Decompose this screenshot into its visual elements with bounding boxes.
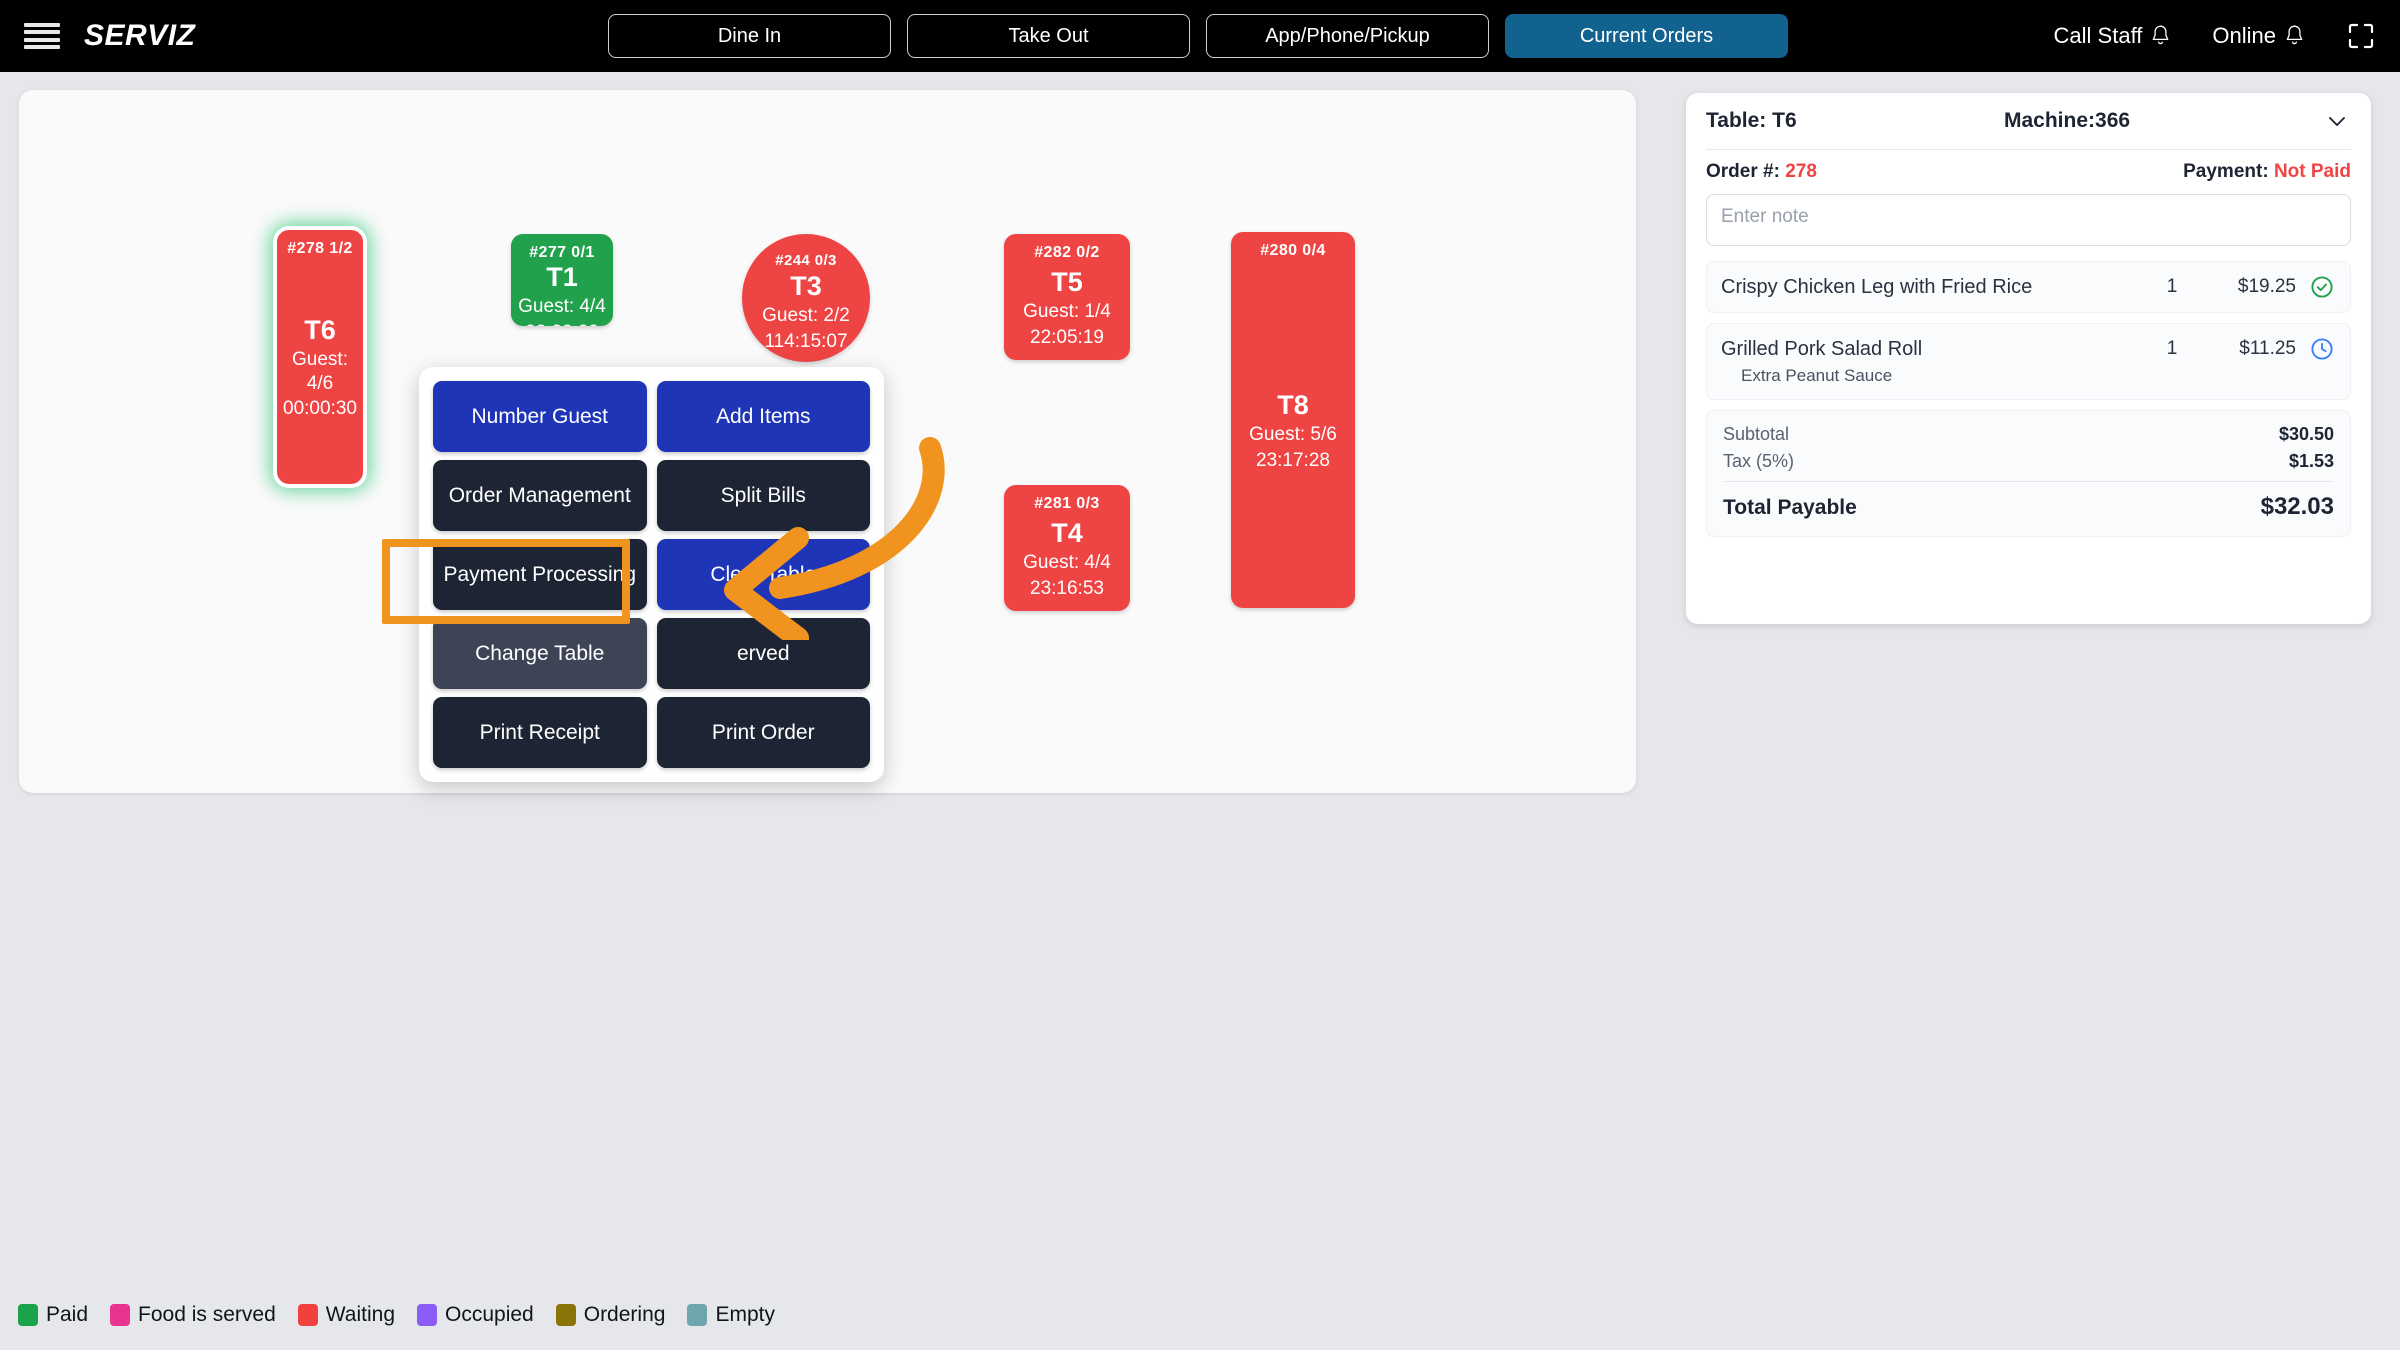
table-guest-count: Guest: 4/6 bbox=[277, 348, 363, 396]
legend-item-food-is-served: Food is served bbox=[110, 1303, 276, 1327]
tab-app-phone-pickup[interactable]: App/Phone/Pickup bbox=[1206, 14, 1489, 58]
menu-print-order-button[interactable]: Print Order bbox=[657, 697, 871, 768]
order-summary-row: Order #: 278 Payment: Not Paid bbox=[1706, 150, 2351, 194]
top-right-actions: Call Staff Online bbox=[2054, 0, 2376, 72]
tax-amount: $1.53 bbox=[2289, 451, 2334, 472]
table-elapsed-time: 23:16:53 bbox=[1030, 577, 1104, 601]
order-item-row[interactable]: Crispy Chicken Leg with Fried Rice 1 $19… bbox=[1706, 261, 2351, 313]
table-guest-count: Guest: 4/4 bbox=[1023, 551, 1111, 575]
call-staff-label: Call Staff bbox=[2054, 23, 2143, 49]
legend-label: Empty bbox=[715, 1303, 775, 1327]
table-name: T1 bbox=[546, 262, 578, 293]
order-item-qty: 1 bbox=[2142, 338, 2202, 360]
subtotal-label: Subtotal bbox=[1723, 424, 1789, 445]
tab-take-out[interactable]: Take Out bbox=[907, 14, 1190, 58]
order-item-price: $19.25 bbox=[2206, 276, 2296, 298]
table-card-t5[interactable]: #282 0/2 T5 Guest: 1/4 22:05:19 bbox=[1004, 234, 1130, 360]
subtotal-row: Subtotal $30.50 bbox=[1723, 424, 2334, 445]
table-ticket: #280 0/4 bbox=[1231, 232, 1355, 260]
legend-swatch bbox=[298, 1304, 318, 1326]
order-number-value: 278 bbox=[1785, 161, 1817, 182]
legend-item-occupied: Occupied bbox=[417, 1303, 534, 1327]
menu-order-management-button[interactable]: Order Management bbox=[433, 460, 647, 531]
hamburger-menu-icon[interactable] bbox=[24, 23, 60, 49]
total-payable-row: Total Payable $32.03 bbox=[1723, 493, 2334, 521]
table-card-t3[interactable]: #244 0/3 T3 Guest: 2/2 114:15:07 bbox=[742, 234, 870, 362]
top-navigation-bar: SERVIZ Dine In Take Out App/Phone/Pickup… bbox=[0, 0, 2400, 72]
table-guest-count: Guest: 1/4 bbox=[1023, 300, 1111, 324]
table-action-menu: Number Guest Add Items Order Management … bbox=[419, 367, 884, 782]
order-number-group: Order #: 278 bbox=[1706, 161, 1817, 183]
online-status-button[interactable]: Online bbox=[2212, 23, 2304, 49]
mode-tabs: Dine In Take Out App/Phone/Pickup Curren… bbox=[608, 14, 1788, 58]
table-elapsed-time: 00:00:30 bbox=[283, 397, 357, 421]
menu-payment-processing-button[interactable]: Payment Processing bbox=[433, 539, 647, 610]
order-note-placeholder: Enter note bbox=[1721, 206, 1809, 228]
table-name: T5 bbox=[1051, 267, 1083, 298]
legend-swatch bbox=[110, 1304, 130, 1326]
order-machine-label: Machine:366 bbox=[2004, 109, 2130, 133]
payment-status-group: Payment: Not Paid bbox=[2183, 161, 2351, 183]
table-elapsed-time: 22:05:19 bbox=[1030, 326, 1104, 350]
table-elapsed-time: 23:17:28 bbox=[1256, 449, 1330, 473]
legend-swatch bbox=[18, 1304, 38, 1326]
table-name: T6 bbox=[304, 315, 336, 346]
bell-icon bbox=[2151, 25, 2170, 47]
total-payable-label: Total Payable bbox=[1723, 496, 1857, 520]
app-logo: SERVIZ bbox=[84, 19, 195, 53]
table-guest-count: Guest: 5/6 bbox=[1249, 423, 1337, 447]
legend-item-ordering: Ordering bbox=[556, 1303, 666, 1327]
status-legend: Paid Food is served Waiting Occupied Ord… bbox=[18, 1303, 787, 1327]
order-panel-header: Table: T6 Machine:366 bbox=[1706, 93, 2351, 150]
table-name: T4 bbox=[1051, 518, 1083, 549]
bell-icon bbox=[2285, 25, 2304, 47]
check-circle-icon[interactable] bbox=[2310, 275, 2334, 299]
order-item-price: $11.25 bbox=[2206, 338, 2296, 360]
legend-item-empty: Empty bbox=[687, 1303, 775, 1327]
table-name: T8 bbox=[1277, 390, 1309, 421]
order-totals: Subtotal $30.50 Tax (5%) $1.53 Total Pay… bbox=[1706, 410, 2351, 537]
menu-clear-table-button[interactable]: Clear Table bbox=[657, 539, 871, 610]
table-guest-count: Guest: 4/4 bbox=[518, 295, 606, 319]
table-ticket: #281 0/3 bbox=[1004, 485, 1130, 513]
legend-swatch bbox=[687, 1304, 707, 1326]
tax-label: Tax (5%) bbox=[1723, 451, 1794, 472]
table-card-t1[interactable]: #277 0/1 T1 Guest: 4/4 23:22:29 bbox=[511, 234, 613, 326]
table-card-t4[interactable]: #281 0/3 T4 Guest: 4/4 23:16:53 bbox=[1004, 485, 1130, 611]
tax-row: Tax (5%) $1.53 bbox=[1723, 451, 2334, 472]
order-table-label: Table: T6 bbox=[1706, 109, 1797, 133]
legend-label: Waiting bbox=[326, 1303, 395, 1327]
table-card-t8[interactable]: #280 0/4 T8 Guest: 5/6 23:17:28 bbox=[1231, 232, 1355, 608]
tab-current-orders[interactable]: Current Orders bbox=[1505, 14, 1788, 58]
legend-swatch bbox=[417, 1304, 437, 1326]
menu-change-table-button[interactable]: Change Table bbox=[433, 618, 647, 689]
legend-item-paid: Paid bbox=[18, 1303, 88, 1327]
table-card-t6[interactable]: #278 1/2 T6 Guest: 4/6 00:00:30 bbox=[277, 230, 363, 484]
online-label: Online bbox=[2212, 23, 2276, 49]
table-ticket: #277 0/1 bbox=[511, 234, 613, 262]
order-item-name: Grilled Pork Salad Roll bbox=[1721, 338, 2138, 361]
table-elapsed-time: 23:22:29 bbox=[525, 321, 599, 326]
legend-label: Food is served bbox=[138, 1303, 276, 1327]
menu-number-guest-button[interactable]: Number Guest bbox=[433, 381, 647, 452]
legend-swatch bbox=[556, 1304, 576, 1326]
order-items-list: Crispy Chicken Leg with Fried Rice 1 $19… bbox=[1706, 261, 2351, 400]
clock-icon[interactable] bbox=[2310, 337, 2334, 361]
total-payable-amount: $32.03 bbox=[2261, 493, 2334, 521]
legend-label: Ordering bbox=[584, 1303, 666, 1327]
table-ticket: #278 1/2 bbox=[277, 230, 363, 258]
floor-plan-panel: #278 1/2 T6 Guest: 4/6 00:00:30 #277 0/1… bbox=[19, 90, 1636, 793]
order-item-qty: 1 bbox=[2142, 276, 2202, 298]
order-item-option: Extra Peanut Sauce bbox=[1721, 366, 2138, 386]
order-number-label: Order #: bbox=[1706, 161, 1780, 182]
table-elapsed-time: 114:15:07 bbox=[764, 330, 847, 354]
table-guest-count: Guest: 2/2 bbox=[762, 304, 850, 328]
menu-print-receipt-button[interactable]: Print Receipt bbox=[433, 697, 647, 768]
legend-label: Occupied bbox=[445, 1303, 534, 1327]
table-ticket: #244 0/3 bbox=[742, 234, 870, 269]
order-details-panel: Table: T6 Machine:366 Order #: 278 Payme… bbox=[1686, 93, 2371, 624]
subtotal-amount: $30.50 bbox=[2279, 424, 2334, 445]
call-staff-button[interactable]: Call Staff bbox=[2054, 23, 2171, 49]
payment-status-value: Not Paid bbox=[2274, 161, 2351, 182]
table-ticket: #282 0/2 bbox=[1004, 234, 1130, 262]
menu-add-items-button[interactable]: Add Items bbox=[657, 381, 871, 452]
order-item-name: Crispy Chicken Leg with Fried Rice bbox=[1721, 276, 2138, 299]
order-note-input[interactable]: Enter note bbox=[1706, 194, 2351, 246]
legend-item-waiting: Waiting bbox=[298, 1303, 395, 1327]
chevron-down-icon[interactable] bbox=[2325, 109, 2349, 133]
legend-label: Paid bbox=[46, 1303, 88, 1327]
table-name: T3 bbox=[790, 271, 822, 302]
menu-split-bills-button[interactable]: Split Bills bbox=[657, 460, 871, 531]
menu-food-served-button[interactable]: erved bbox=[657, 618, 871, 689]
fullscreen-icon[interactable] bbox=[2346, 21, 2376, 51]
totals-divider bbox=[1723, 481, 2334, 482]
payment-label: Payment: bbox=[2183, 161, 2269, 182]
order-item-row[interactable]: Grilled Pork Salad Roll 1 $11.25 Extra P… bbox=[1706, 323, 2351, 400]
tab-dine-in[interactable]: Dine In bbox=[608, 14, 891, 58]
